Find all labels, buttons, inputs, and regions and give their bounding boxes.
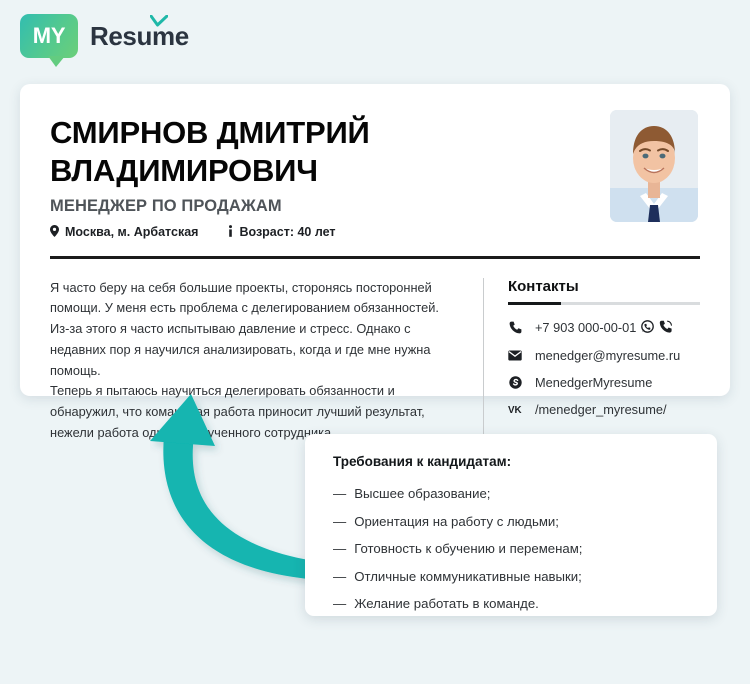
map-pin-icon [50,225,59,240]
contact-phone[interactable]: +7 903 000-00-01 [508,320,700,336]
requirement-text: Отличные коммуникативные навыки; [354,569,582,584]
requirement-text: Готовность к обучению и переменам; [354,541,582,556]
requirement-item: — Ориентация на работу с людьми; [333,514,689,529]
contacts-list: +7 903 000-00-01 [508,320,700,417]
header-divider [50,256,700,259]
requirement-text: Желание работать в команде. [354,596,539,611]
contact-phone-value: +7 903 000-00-01 [535,320,636,335]
vk-icon: VK [508,404,523,414]
contacts-column: Контакты +7 903 000-00-01 [483,278,700,444]
requirement-item: — Желание работать в команде. [333,596,689,611]
envelope-icon [508,350,523,361]
avatar [610,110,698,222]
requirements-heading: Требования к кандидатам: [333,454,689,469]
identity-block: СМИРНОВ ДМИТРИЙ ВЛАДИМИРОВИЧ МЕНЕДЖЕР ПО… [50,110,610,240]
contact-vk[interactable]: VK /menedger_myresume/ [508,402,700,417]
location-meta: Москва, м. Арбатская [50,225,198,240]
contact-vk-value: /menedger_myresume/ [535,402,667,417]
logo-word-text: Resume [90,21,189,51]
contact-skype[interactable]: MenedgerMyresume [508,375,700,390]
resume-header: СМИРНОВ ДМИТРИЙ ВЛАДИМИРОВИЧ МЕНЕДЖЕР ПО… [50,110,700,240]
contacts-heading: Контакты [508,278,700,295]
candidate-name: СМИРНОВ ДМИТРИЙ ВЛАДИМИРОВИЧ [50,114,610,190]
page-root: MY Resume СМИРНОВ ДМИТРИЙ ВЛАДИМИРОВИЧ М… [0,0,750,684]
list-dash: — [333,486,346,501]
location-text: Москва, м. Арбатская [65,225,198,239]
age-text: Возраст: 40 лет [239,225,335,239]
site-logo[interactable]: MY Resume [20,14,189,58]
check-icon [150,14,168,32]
list-dash: — [333,569,346,584]
logo-bubble-icon: MY [20,14,78,58]
age-meta: Возраст: 40 лет [228,225,335,240]
whatsapp-icon[interactable] [641,320,654,336]
contact-email-value: menedger@myresume.ru [535,348,680,363]
requirements-list: — Высшее образование; — Ориентация на ра… [333,486,689,611]
list-dash: — [333,541,346,556]
svg-text:VK: VK [508,405,522,414]
viber-icon[interactable] [659,320,672,336]
requirement-text: Ориентация на работу с людьми; [354,514,559,529]
requirement-item: — Готовность к обучению и переменам; [333,541,689,556]
info-icon [228,225,233,240]
candidate-job-title: МЕНЕДЖЕР ПО ПРОДАЖАМ [50,197,610,216]
candidate-meta: Москва, м. Арбатская Возраст: 40 лет [50,225,610,240]
logo-badge-text: MY [33,23,65,49]
requirements-card: Требования к кандидатам: — Высшее образо… [305,434,717,616]
requirement-item: — Высшее образование; [333,486,689,501]
resume-body: Я часто беру на себя большие проекты, ст… [50,278,700,444]
contact-skype-value: MenedgerMyresume [535,375,652,390]
list-dash: — [333,596,346,611]
phone-icon [508,321,523,334]
list-dash: — [333,514,346,529]
contacts-underline [508,302,700,305]
summary-paragraph: Я часто беру на себя большие проекты, ст… [50,278,459,382]
contact-phone-value-wrap: +7 903 000-00-01 [535,320,672,336]
requirement-item: — Отличные коммуникативные навыки; [333,569,689,584]
requirement-text: Высшее образование; [354,486,490,501]
logo-wordmark: Resume [90,21,189,52]
skype-icon [508,376,523,389]
contact-email[interactable]: menedger@myresume.ru [508,348,700,363]
resume-card: СМИРНОВ ДМИТРИЙ ВЛАДИМИРОВИЧ МЕНЕДЖЕР ПО… [20,84,730,396]
